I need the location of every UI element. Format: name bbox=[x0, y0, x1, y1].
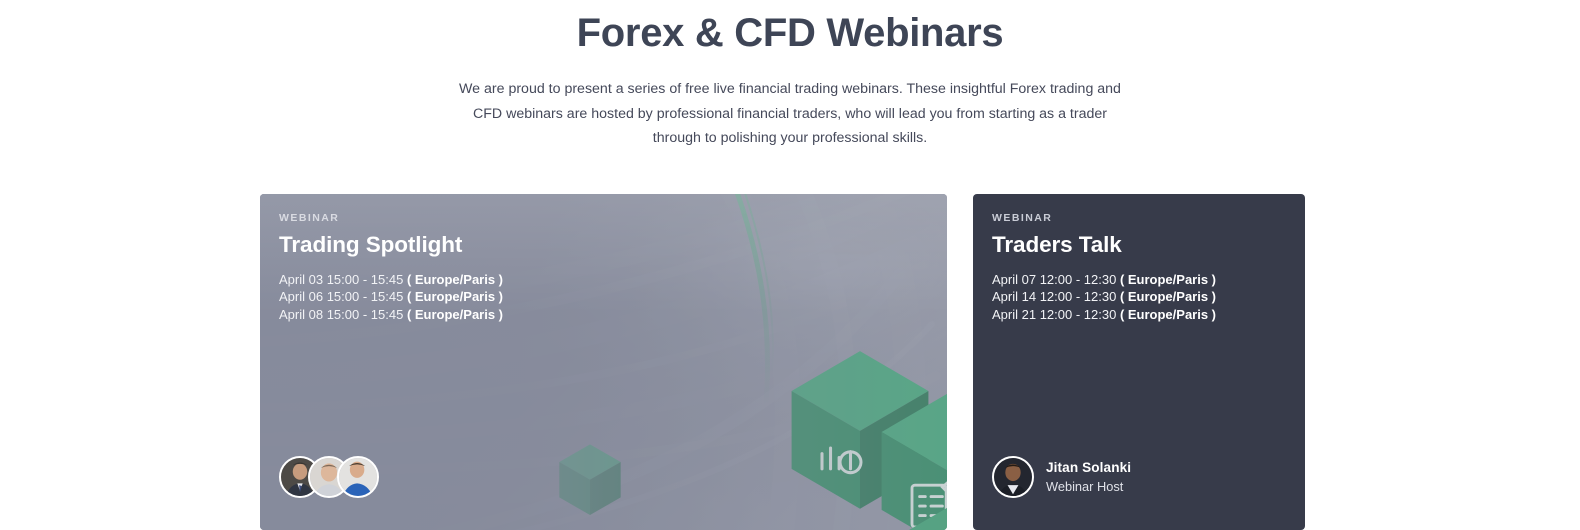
webinar-card-trading-spotlight[interactable]: WEBINAR Trading Spotlight April 03 15:00… bbox=[260, 194, 947, 530]
hero-description: We are proud to present a series of free… bbox=[454, 77, 1126, 151]
presenter-role: Webinar Host bbox=[1046, 479, 1131, 495]
session-item: April 06 15:00 - 15:45 ( Europe/Paris ) bbox=[279, 288, 947, 305]
session-item: April 08 15:00 - 15:45 ( Europe/Paris ) bbox=[279, 306, 947, 323]
session-datetime: April 21 12:00 - 12:30 bbox=[992, 307, 1116, 322]
session-item: April 21 12:00 - 12:30 ( Europe/Paris ) bbox=[992, 306, 1305, 323]
session-datetime: April 08 15:00 - 15:45 bbox=[279, 307, 403, 322]
session-datetime: April 07 12:00 - 12:30 bbox=[992, 272, 1116, 287]
card-title: Traders Talk bbox=[992, 232, 1305, 259]
webinars-page: Forex & CFD Webinars We are proud to pre… bbox=[0, 0, 1580, 530]
avatar[interactable] bbox=[337, 456, 379, 498]
hero-section: Forex & CFD Webinars We are proud to pre… bbox=[0, 0, 1580, 151]
webinar-card-list: WEBINAR Trading Spotlight April 03 15:00… bbox=[260, 194, 1305, 530]
session-datetime: April 03 15:00 - 15:45 bbox=[279, 272, 403, 287]
session-item: April 03 15:00 - 15:45 ( Europe/Paris ) bbox=[279, 271, 947, 288]
avatar[interactable] bbox=[992, 456, 1034, 498]
page-title: Forex & CFD Webinars bbox=[0, 8, 1580, 58]
card-eyebrow: WEBINAR bbox=[992, 213, 1305, 224]
session-timezone: ( Europe/Paris ) bbox=[1120, 307, 1216, 322]
session-item: April 14 12:00 - 12:30 ( Europe/Paris ) bbox=[992, 288, 1305, 305]
session-list: April 07 12:00 - 12:30 ( Europe/Paris ) … bbox=[992, 271, 1305, 323]
presenter-info: Jitan Solanki Webinar Host bbox=[1046, 460, 1131, 495]
card-eyebrow: WEBINAR bbox=[279, 213, 947, 224]
session-datetime: April 06 15:00 - 15:45 bbox=[279, 289, 403, 304]
session-list: April 03 15:00 - 15:45 ( Europe/Paris ) … bbox=[279, 271, 947, 323]
session-timezone: ( Europe/Paris ) bbox=[1120, 272, 1216, 287]
session-item: April 07 12:00 - 12:30 ( Europe/Paris ) bbox=[992, 271, 1305, 288]
avatar-stack bbox=[279, 456, 379, 498]
presenter-group bbox=[279, 456, 379, 498]
card-title: Trading Spotlight bbox=[279, 232, 947, 259]
session-datetime: April 14 12:00 - 12:30 bbox=[992, 289, 1116, 304]
session-timezone: ( Europe/Paris ) bbox=[407, 272, 503, 287]
session-timezone: ( Europe/Paris ) bbox=[407, 307, 503, 322]
session-timezone: ( Europe/Paris ) bbox=[407, 289, 503, 304]
presenter-name: Jitan Solanki bbox=[1046, 460, 1131, 477]
card-content: WEBINAR Traders Talk April 07 12:00 - 12… bbox=[973, 194, 1305, 323]
webinar-card-traders-talk[interactable]: WEBINAR Traders Talk April 07 12:00 - 12… bbox=[973, 194, 1305, 530]
presenter-group: Jitan Solanki Webinar Host bbox=[992, 456, 1131, 498]
session-timezone: ( Europe/Paris ) bbox=[1120, 289, 1216, 304]
card-content: WEBINAR Trading Spotlight April 03 15:00… bbox=[260, 194, 947, 323]
